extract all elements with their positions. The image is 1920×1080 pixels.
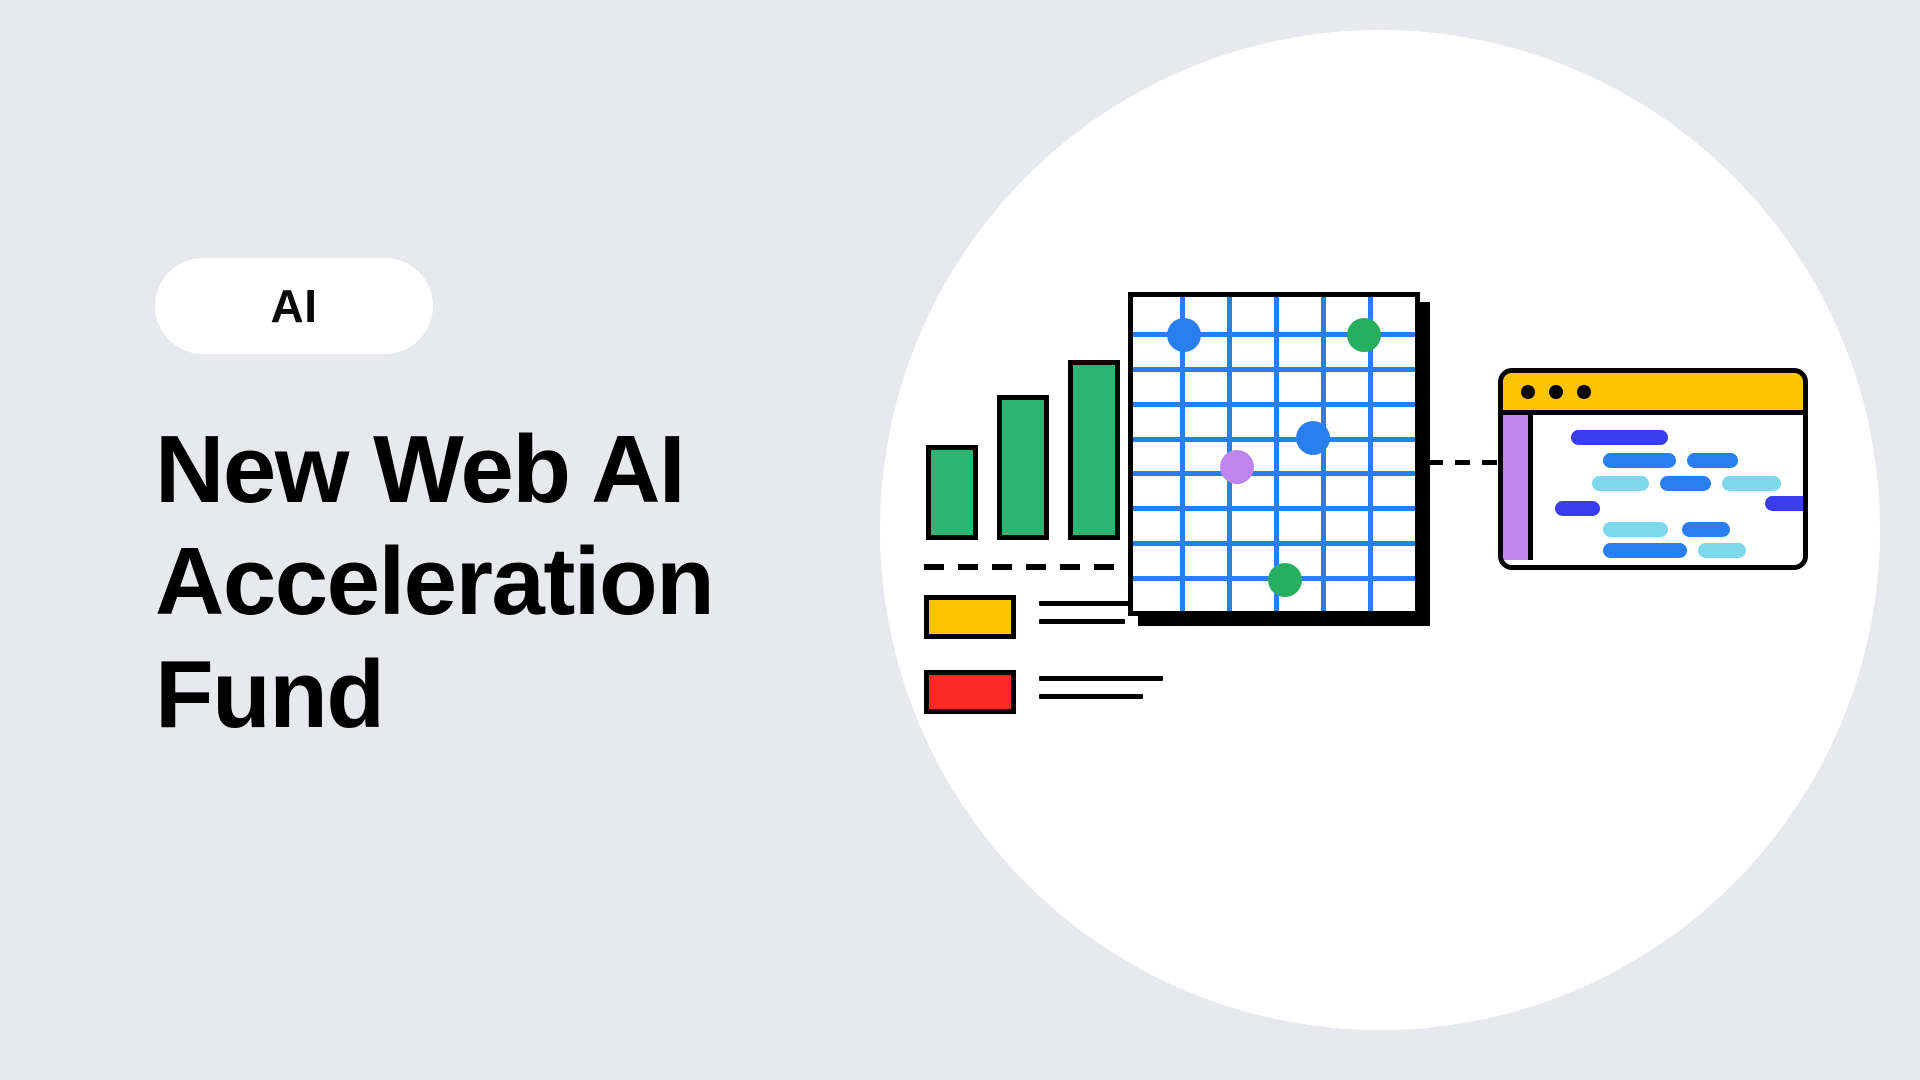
code-pill-4 (1592, 476, 1649, 491)
window-minimize-dot-icon[interactable] (1549, 385, 1563, 399)
window-titlebar (1503, 373, 1803, 415)
dashed-divider (924, 564, 1152, 570)
gridline-horizontal (1133, 541, 1415, 546)
illustration-column (880, 30, 1880, 1050)
code-pill-12 (1698, 543, 1747, 558)
code-pill-9 (1603, 522, 1668, 537)
editor-sidebar (1503, 415, 1533, 560)
point-blue-2 (1296, 421, 1330, 455)
window-close-dot-icon[interactable] (1521, 385, 1535, 399)
code-pill-8 (1555, 501, 1601, 516)
dashed-connector (1428, 460, 1498, 465)
code-pill-2 (1603, 453, 1676, 468)
point-purple-1 (1220, 450, 1254, 484)
page-title: New Web AI Acceleration Fund (155, 414, 815, 751)
point-blue-1 (1167, 318, 1201, 352)
promo-banner: AI New Web AI Acceleration Fund (0, 0, 1920, 1080)
window-maximize-dot-icon[interactable] (1577, 385, 1591, 399)
window-body (1503, 415, 1803, 560)
code-pill-11 (1603, 543, 1687, 558)
legend-line-long (1039, 676, 1163, 681)
gridline-horizontal (1133, 506, 1415, 511)
gridline-vertical (1321, 297, 1326, 611)
category-badge[interactable]: AI (155, 258, 433, 354)
bar-1 (926, 445, 978, 540)
legend-line-short (1039, 694, 1143, 699)
text-column: AI New Web AI Acceleration Fund (155, 258, 855, 751)
analytics-illustration (880, 30, 1880, 1050)
gridline-horizontal (1133, 402, 1415, 407)
code-pill-7 (1765, 496, 1808, 511)
legend-swatch-yellow (924, 595, 1016, 639)
point-green-2 (1268, 563, 1302, 597)
category-badge-label: AI (271, 279, 318, 333)
code-pill-1 (1571, 430, 1668, 445)
code-editor-window[interactable] (1498, 368, 1808, 570)
legend-line-short (1039, 619, 1125, 624)
gridline-horizontal (1133, 367, 1415, 372)
code-pill-3 (1687, 453, 1738, 468)
legend-row-red (924, 670, 1224, 714)
legend-swatch-red (924, 670, 1016, 714)
editor-code-area (1533, 415, 1803, 560)
code-pill-6 (1722, 476, 1781, 491)
gridline-horizontal (1133, 471, 1415, 476)
code-pill-10 (1682, 522, 1731, 537)
bar-2 (997, 395, 1049, 540)
gridline-horizontal (1133, 437, 1415, 442)
bar-3 (1068, 360, 1120, 540)
point-green-1 (1347, 318, 1381, 352)
code-pill-5 (1660, 476, 1711, 491)
legend-text-lines-red (1039, 676, 1219, 699)
scatter-grid-panel (1128, 292, 1420, 616)
bar-chart-icon (926, 350, 1126, 540)
